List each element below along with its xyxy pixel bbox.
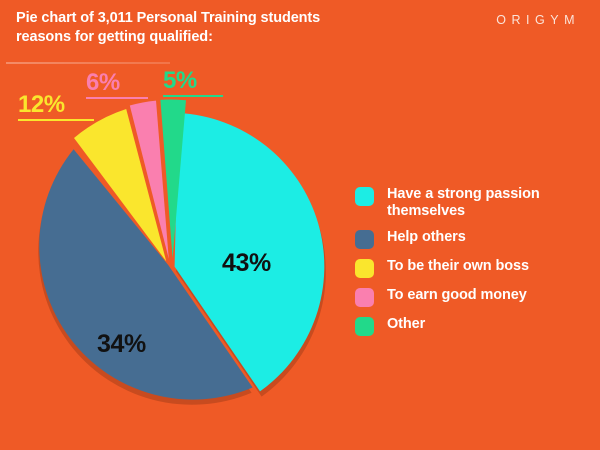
legend-item-help-others[interactable]: Help others bbox=[355, 229, 590, 249]
legend-label-help-others: Help others bbox=[387, 229, 466, 246]
legend-item-other[interactable]: Other bbox=[355, 316, 590, 336]
legend-label-passion: Have a strong passion themselves bbox=[387, 186, 590, 220]
callout-own-boss: 12% bbox=[18, 92, 94, 121]
legend-item-good-money[interactable]: To earn good money bbox=[355, 287, 590, 307]
callout-leader-line-own-boss bbox=[18, 119, 94, 121]
legend-swatch-icon-own-boss bbox=[355, 259, 374, 278]
legend-swatch-icon-passion bbox=[355, 187, 374, 206]
legend-item-own-boss[interactable]: To be their own boss bbox=[355, 258, 590, 278]
slice-value-help-others: 34% bbox=[97, 330, 146, 359]
chart-legend: Have a strong passion themselves Help ot… bbox=[355, 186, 590, 345]
page-title: Pie chart of 3,011 Personal Training stu… bbox=[16, 9, 346, 47]
title-divider bbox=[6, 62, 170, 64]
origym-logo: ORIGYM bbox=[496, 13, 580, 27]
legend-label-own-boss: To be their own boss bbox=[387, 258, 529, 275]
callout-value-own-boss: 12% bbox=[18, 92, 94, 118]
pie-chart-svg bbox=[0, 96, 350, 446]
callout-good-money: 6% bbox=[86, 70, 148, 99]
chart-canvas: Pie chart of 3,011 Personal Training stu… bbox=[0, 0, 600, 450]
callout-value-other: 5% bbox=[163, 68, 223, 94]
legend-label-good-money: To earn good money bbox=[387, 287, 527, 304]
slice-value-passion: 43% bbox=[222, 249, 271, 278]
legend-item-passion[interactable]: Have a strong passion themselves bbox=[355, 186, 590, 220]
legend-label-other: Other bbox=[387, 316, 425, 333]
pie-chart bbox=[0, 96, 350, 446]
legend-swatch-icon-good-money bbox=[355, 288, 374, 307]
legend-swatch-icon-other bbox=[355, 317, 374, 336]
legend-swatch-icon-help-others bbox=[355, 230, 374, 249]
callout-other: 5% bbox=[163, 68, 223, 97]
callout-value-good-money: 6% bbox=[86, 70, 148, 96]
callout-leader-line-other bbox=[163, 95, 223, 97]
callout-leader-line-good-money bbox=[86, 97, 148, 99]
